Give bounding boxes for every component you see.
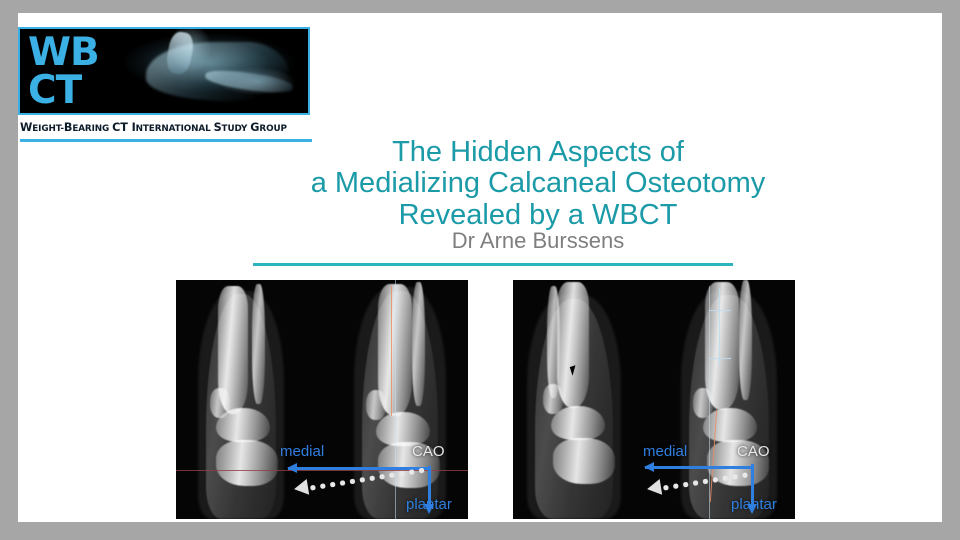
wbct-logo: WB CT WEIGHT-BEARING CT INTERNATIONAL ST… [18,27,314,147]
slide-viewer: WB CT WEIGHT-BEARING CT INTERNATIONAL ST… [0,0,960,540]
ct-right-fibula-a [547,286,560,398]
ct-right-screw-lower [709,358,731,359]
ct-right-screw-shaft [719,288,720,366]
presentation-slide: WB CT WEIGHT-BEARING CT INTERNATIONAL ST… [18,13,942,522]
ct-left-talus-a [216,408,270,442]
ct-panel-left: medial CAO plantar [176,280,468,519]
ct-right-displacement-arrowhead [646,479,662,497]
ct-left-talus-b [376,412,430,446]
ct-right-talus-a [551,406,605,440]
ct-left-osteotomy-axis [391,286,392,416]
ct-left-annotation-medial: medial [280,443,324,460]
ct-left-reference-axis [395,280,396,519]
ct-right-talus-b [703,408,757,442]
logo-tagline: WEIGHT-BEARING CT INTERNATIONAL STUDY GR… [20,121,312,134]
ct-left-fibula-a [252,284,265,404]
ct-left-malleolus-b [366,390,386,420]
ct-right-reference-axis [709,286,710,519]
ct-right-screw-upper [709,310,731,311]
ct-right-plantar-arrow [751,464,754,506]
ct-right-calcaneus-a [553,438,615,484]
slide-title: The Hidden Aspects of a Medializing Calc… [188,137,888,231]
title-divider-rule [253,263,733,266]
ct-right-annotation-medial: medial [643,443,687,460]
ct-left-displacement-arrowhead [293,479,309,497]
ct-left-image: medial CAO plantar [176,280,468,519]
ct-left-annotation-cao: CAO [412,443,445,460]
ct-left-calcaneus-a [216,440,278,486]
logo-letters-line2: CT [28,71,124,110]
ct-right-annotation-cao: CAO [737,443,770,460]
logo-letters-line1: WB [28,33,124,72]
ct-right-tibia-a [557,282,589,408]
ct-panel-right: medial CAO plantar [513,280,795,519]
ct-right-fibula-b [739,280,752,400]
ct-right-medial-arrow [645,466,753,469]
slide-title-line-1: The Hidden Aspects of [188,137,888,168]
logo-foot-xray-icon [124,29,308,113]
logo-letters: WB CT [20,29,124,113]
ct-left-plantar-arrow [428,466,431,506]
ct-right-image: medial CAO plantar [513,280,795,519]
slide-title-line-3: Revealed by a WBCT [188,200,888,231]
ct-left-fibula-b [412,282,425,406]
logo-image-box: WB CT [18,27,310,115]
slide-subtitle-author: Dr Arne Burssens [188,228,888,254]
slide-title-line-2: a Medializing Calcaneal Osteotomy [188,168,888,199]
